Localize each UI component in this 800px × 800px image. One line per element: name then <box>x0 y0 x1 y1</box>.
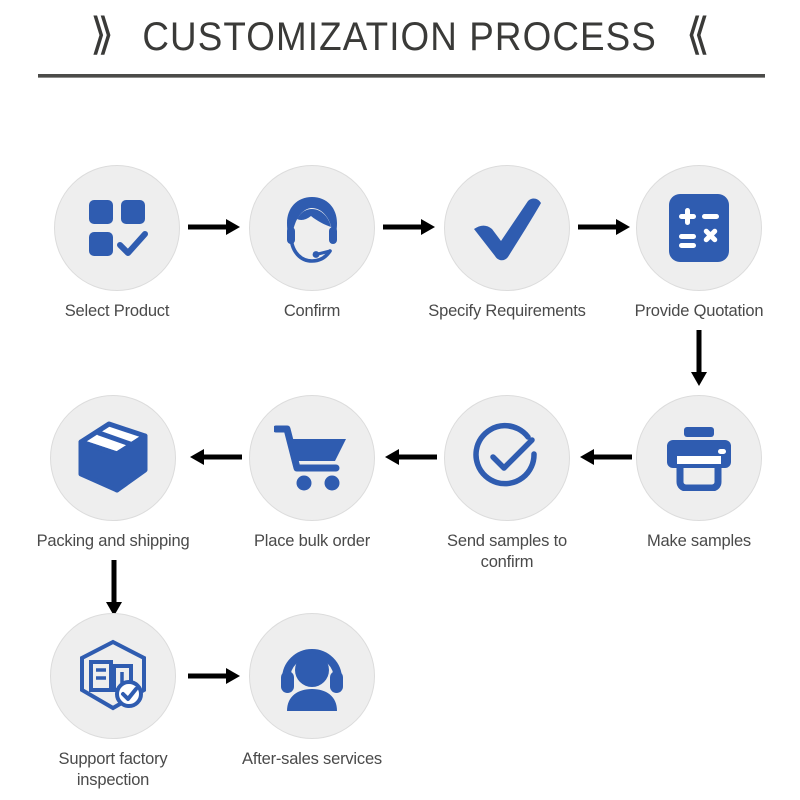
shopping-cart-icon <box>274 423 350 493</box>
step-label: After-sales services <box>227 749 397 770</box>
step-icon-circle <box>636 165 762 291</box>
step-label: Make samples <box>614 531 784 552</box>
double-chevron-left-icon: ⟪ <box>686 13 710 57</box>
step-label: Packing and shipping <box>28 531 198 552</box>
step-icon-circle <box>636 395 762 521</box>
headset-agent-icon <box>275 191 349 265</box>
checkmark-icon <box>468 191 546 265</box>
step-icon-circle <box>249 395 375 521</box>
process-step-make-samples[interactable]: Make samples <box>614 395 784 552</box>
step-label: Confirm <box>227 301 397 322</box>
step-icon-circle <box>444 165 570 291</box>
process-step-provide-quotation[interactable]: Provide Quotation <box>614 165 784 322</box>
step-label: Place bulk order <box>227 531 397 552</box>
connector-arrow-down <box>103 560 125 618</box>
double-chevron-right-icon: ⟫ <box>90 13 114 57</box>
step-label: Select Product <box>32 301 202 322</box>
process-step-confirm[interactable]: Confirm <box>227 165 397 322</box>
support-person-icon <box>275 641 349 711</box>
circle-check-icon <box>470 421 544 495</box>
page-title-text: CUSTOMIZATION PROCESS <box>143 15 658 60</box>
process-step-packing-shipping[interactable]: Packing and shipping <box>28 395 198 552</box>
connector-arrow-down <box>688 330 710 388</box>
page-header: ⟫ CUSTOMIZATION PROCESS ⟪ <box>0 0 800 92</box>
process-step-factory-inspection[interactable]: Support factory inspection <box>28 613 198 791</box>
step-icon-circle <box>54 165 180 291</box>
step-icon-circle <box>50 395 176 521</box>
grid-check-icon <box>83 194 151 262</box>
step-icon-circle <box>444 395 570 521</box>
page-title: ⟫ CUSTOMIZATION PROCESS ⟪ <box>0 8 800 66</box>
factory-shield-check-icon <box>74 638 152 714</box>
step-label: Provide Quotation <box>614 301 784 322</box>
package-box-icon <box>75 420 151 496</box>
process-step-specify-requirements[interactable]: Specify Requirements <box>422 165 592 322</box>
printer-icon <box>663 425 735 491</box>
step-icon-circle <box>249 165 375 291</box>
process-step-place-bulk-order[interactable]: Place bulk order <box>227 395 397 552</box>
step-icon-circle <box>50 613 176 739</box>
process-step-select-product[interactable]: Select Product <box>32 165 202 322</box>
step-icon-circle <box>249 613 375 739</box>
step-label: Specify Requirements <box>422 301 592 322</box>
step-label: Send samples to confirm <box>422 531 592 573</box>
header-divider <box>38 74 765 78</box>
calculator-icon <box>666 191 732 265</box>
process-step-after-sales[interactable]: After-sales services <box>227 613 397 770</box>
process-step-send-samples[interactable]: Send samples to confirm <box>422 395 592 573</box>
step-label: Support factory inspection <box>28 749 198 791</box>
